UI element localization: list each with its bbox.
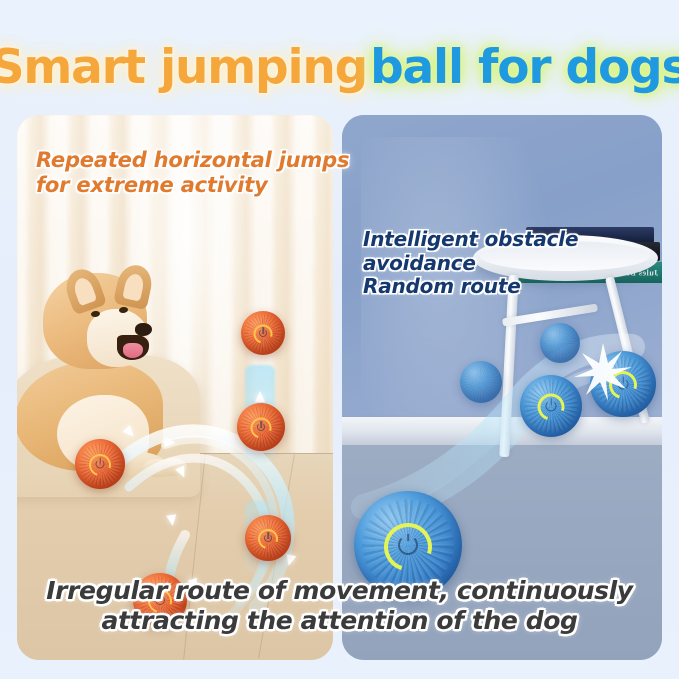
ball-small-up (540, 323, 580, 363)
dog-ear-right (113, 262, 155, 310)
dog-nose (135, 323, 152, 336)
ball-apex-right (241, 311, 285, 355)
dog-head (43, 273, 147, 369)
ball-floor-left (75, 439, 125, 489)
ball-small-left (460, 361, 502, 403)
ball-mid (520, 375, 582, 437)
title-segment-smart-jumping: Smart jumping (0, 44, 370, 91)
direction-arrow (164, 437, 176, 448)
dog-ear-left (61, 264, 107, 315)
direction-arrow (166, 514, 177, 526)
ball-lower-right (245, 515, 291, 561)
caption-footer: Irregular route of movement, continuousl… (0, 576, 679, 635)
ball-impact (590, 351, 656, 417)
page-title: Smart jumping ball for dogs (0, 34, 679, 100)
direction-arrow-up (255, 391, 265, 402)
caption-left-panel: Repeated horizontal jumps for extreme ac… (36, 148, 349, 198)
caption-right-panel: Intelligent obstacle avoidance Random ro… (363, 228, 679, 299)
title-segment-ball-for-dogs: ball for dogs (370, 44, 679, 91)
ball-mid-right (237, 403, 285, 451)
